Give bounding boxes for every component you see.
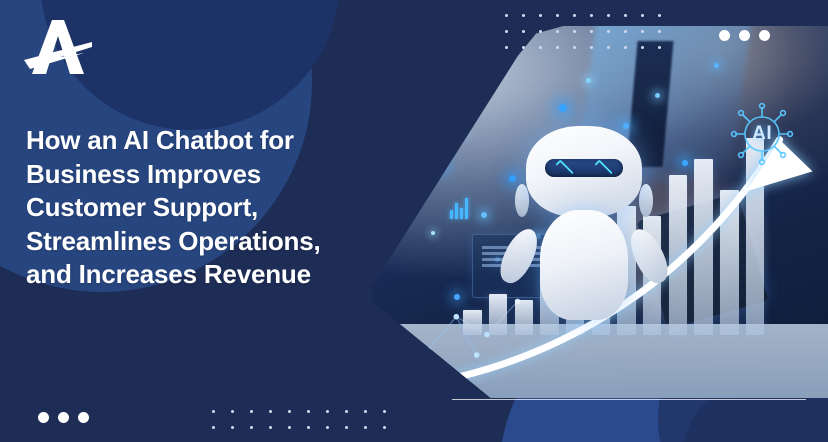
grid-dot (326, 426, 329, 429)
grid-dot (607, 14, 610, 17)
dot (759, 30, 770, 41)
grid-dot (590, 30, 593, 33)
grid-dot (607, 30, 610, 33)
grid-dot (624, 46, 627, 49)
robot-head (526, 126, 642, 217)
dot (719, 30, 730, 41)
grid-dot (556, 14, 559, 17)
grid-dot (590, 14, 593, 17)
grid-dot (307, 410, 310, 413)
grid-dot (250, 410, 253, 413)
grid-dot (345, 410, 348, 413)
robot-visor (545, 159, 624, 177)
ai-badge-label: AI (728, 100, 796, 168)
grid-dot (641, 30, 644, 33)
dot (739, 30, 750, 41)
robot-eye-right (594, 159, 613, 178)
hero-banner: How an AI Chatbot for Business Improves … (0, 0, 828, 442)
grid-dot (212, 410, 215, 413)
brand-logo[interactable] (22, 16, 94, 78)
grid-dot (364, 410, 367, 413)
grid-dot (345, 426, 348, 429)
grid-dot (505, 14, 508, 17)
robot-ear-right (639, 184, 653, 217)
ai-circuit-chip-icon: AI (728, 100, 796, 168)
page-title: How an AI Chatbot for Business Improves … (26, 124, 376, 292)
grid-dot (658, 46, 661, 49)
grid-dot (231, 426, 234, 429)
grid-dot (364, 426, 367, 429)
grid-dot (607, 46, 610, 49)
dot (78, 412, 89, 423)
dot (38, 412, 49, 423)
dot-grid-bottom (212, 410, 402, 442)
robot-body (540, 210, 628, 320)
grid-dot (231, 410, 234, 413)
grid-dot (250, 426, 253, 429)
grid-dot (522, 30, 525, 33)
ai-chatbot-robot (513, 126, 654, 319)
grid-dot (288, 426, 291, 429)
grid-dot (573, 46, 576, 49)
big-dots-top-right (719, 30, 770, 41)
big-dots-bottom-left (38, 412, 89, 423)
grid-dot (539, 46, 542, 49)
grid-dot (269, 410, 272, 413)
grid-dot (383, 426, 386, 429)
grid-dot (573, 30, 576, 33)
grid-dot (556, 46, 559, 49)
dot (58, 412, 69, 423)
grid-dot (624, 14, 627, 17)
grid-dot (307, 426, 310, 429)
divider-line (452, 399, 806, 400)
grid-dot (658, 14, 661, 17)
robot-eye-left (555, 159, 574, 178)
grid-dot (288, 410, 291, 413)
grid-dot (590, 46, 593, 49)
grid-dot (556, 30, 559, 33)
grid-dot (522, 14, 525, 17)
grid-dot (505, 30, 508, 33)
grid-dot (326, 410, 329, 413)
grid-dot (212, 426, 215, 429)
grid-dot (539, 14, 542, 17)
grid-dot (641, 14, 644, 17)
grid-dot (383, 410, 386, 413)
grid-dot (624, 30, 627, 33)
grid-dot (539, 30, 542, 33)
grid-dot (522, 46, 525, 49)
grid-dot (573, 14, 576, 17)
grid-dot (658, 30, 661, 33)
grid-dot (269, 426, 272, 429)
grid-dot (641, 46, 644, 49)
robot-ear-left (515, 184, 529, 217)
grid-dot (505, 46, 508, 49)
dot-grid-top (505, 14, 675, 62)
